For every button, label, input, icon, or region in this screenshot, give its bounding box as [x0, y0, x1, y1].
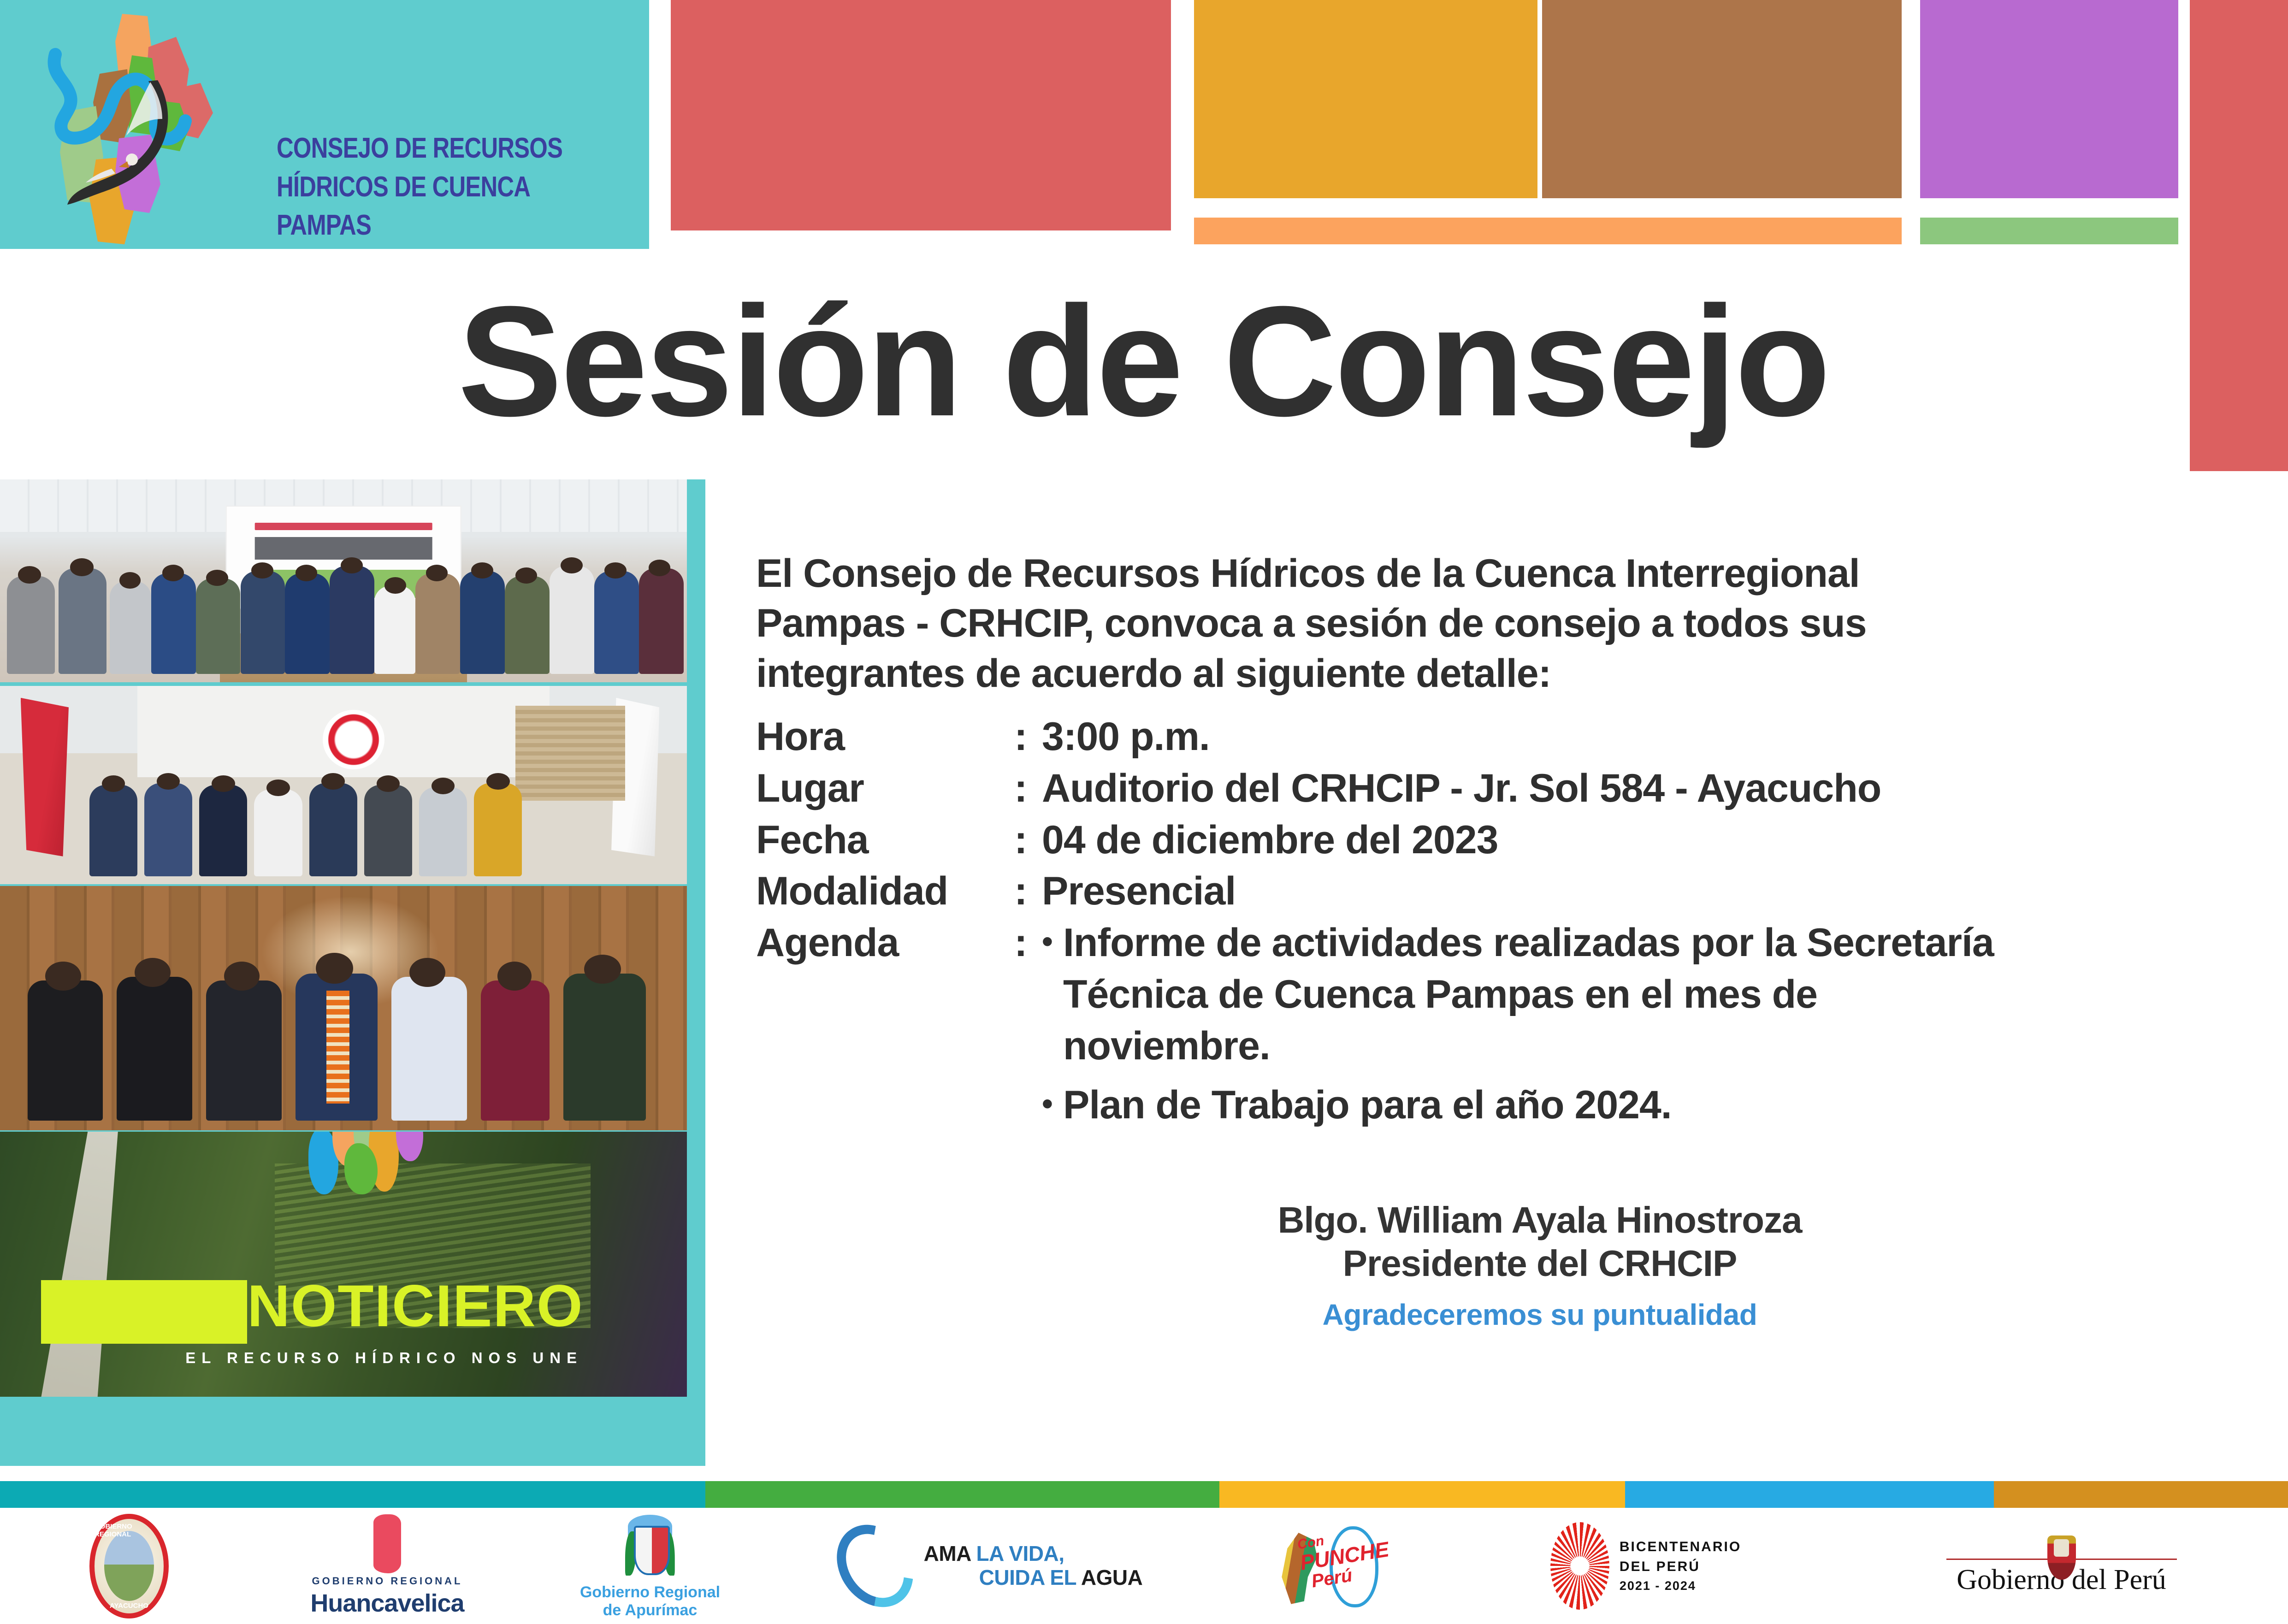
bicentenario-line-3: 2021 - 2024: [1620, 1577, 1741, 1595]
apurimac-line-2: de Apurímac: [603, 1602, 698, 1618]
logo-gobierno-del-peru: Gobierno del Perú: [1835, 1508, 2288, 1624]
detail-row-hora: Hora : 3:00 p.m.: [756, 711, 2019, 763]
top-block-yellow: [1194, 0, 1537, 198]
ayacucho-bottom-label: AYACUCHO: [110, 1602, 148, 1610]
logo-gobierno-regional-apurimac: Gobierno Regional de Apurímac: [516, 1508, 784, 1624]
footer-bar-ochre: [1994, 1481, 2288, 1508]
signature-block: Blgo. William Ayala Hinostroza President…: [1180, 1199, 1899, 1332]
ama-la-vida-text: AMA LA VIDA, CUIDA EL AGUA: [924, 1542, 1143, 1589]
huancavelica-line-2: Huancavelica: [310, 1589, 464, 1618]
bicentenario-line-2: DEL PERÚ: [1620, 1557, 1741, 1577]
bicentenario-sun-icon: [1550, 1522, 1609, 1610]
logo-line-1: CONSEJO DE RECURSOS: [277, 129, 579, 168]
intro-line-2: Pampas - CRHCIP, convoca a sesión de con…: [756, 598, 2019, 648]
ayacucho-seal-icon: GOBIERNO REGIONAL AYACUCHO: [89, 1514, 169, 1618]
footer-logo-row: GOBIERNO REGIONAL AYACUCHO GOBIERNO REGI…: [0, 1508, 2288, 1624]
detail-value-modalidad: Presencial: [1042, 866, 2019, 917]
signature-name: Blgo. William Ayala Hinostroza: [1180, 1199, 1899, 1242]
signature-thanks: Agradeceremos su puntualidad: [1180, 1298, 1899, 1332]
top-block-brown: [1542, 0, 1902, 198]
logo-line-2: HÍDRICOS DE CUENCA PAMPAS: [277, 168, 579, 245]
bicentenario-line-1: BICENTENARIO: [1620, 1537, 1741, 1557]
ama-word-2: LA VIDA,: [976, 1541, 1064, 1565]
photo-flags-meeting: [0, 686, 687, 884]
top-strip-green: [1920, 218, 2178, 244]
signature-role: Presidente del CRHCIP: [1180, 1242, 1899, 1285]
top-block-red: [671, 0, 1171, 230]
detail-colon-hora: :: [1014, 711, 1042, 763]
detail-value-hora: 3:00 p.m.: [1042, 711, 2019, 763]
ama-word-1: AMA: [924, 1541, 971, 1565]
logo-gobierno-regional-huancavelica: GOBIERNO REGIONAL Huancavelica: [258, 1508, 516, 1624]
detail-colon-fecha: :: [1014, 815, 1042, 866]
poster-canvas: CONSEJO DE RECURSOS HÍDRICOS DE CUENCA P…: [0, 0, 2288, 1624]
huancavelica-line-1: GOBIERNO REGIONAL: [312, 1575, 462, 1587]
footer-bar-green: [705, 1481, 1219, 1508]
detail-value-lugar: Auditorio del CRHCIP - Jr. Sol 584 - Aya…: [1042, 763, 2019, 815]
ama-word-3: CUIDA EL: [979, 1565, 1076, 1589]
logo-wordmark: CONSEJO DE RECURSOS HÍDRICOS DE CUENCA P…: [277, 129, 579, 245]
photo-collage: NOTICIERO EL RECURSO HÍDRICO NOS UNE: [0, 479, 705, 1466]
footer-bar-blue: [1625, 1481, 1994, 1508]
top-block-purple: [1920, 0, 2178, 198]
announcement-body: El Consejo de Recursos Hídricos de la Cu…: [756, 549, 2019, 1131]
con-punche-peru-icon: Con PUNCHE Perú: [1275, 1524, 1381, 1607]
footer-bar-teal: [0, 1481, 705, 1508]
bullet-icon-2: •: [1042, 1080, 1063, 1128]
water-drop-icon: [821, 1510, 928, 1622]
crhcip-logo-icon: [41, 5, 281, 244]
agenda-item-1-line-2: Técnica de Cuenca Pampas en el mes de no…: [1063, 969, 2019, 1072]
detail-row-modalidad: Modalidad : Presencial: [756, 866, 2019, 917]
apurimac-shield-icon: [625, 1513, 675, 1583]
logo-panel: CONSEJO DE RECURSOS HÍDRICOS DE CUENCA P…: [0, 0, 649, 249]
noticiero-color-block: [41, 1280, 247, 1344]
detail-row-fecha: Fecha : 04 de diciembre del 2023: [756, 815, 2019, 866]
top-strip-orange: [1194, 218, 1902, 244]
photo-group-meeting: [0, 479, 687, 682]
detail-colon-lugar: :: [1014, 763, 1042, 815]
ama-word-4: AGUA: [1081, 1565, 1142, 1589]
footer-bar-yellow: [1219, 1481, 1625, 1508]
top-block-red-right: [2190, 0, 2288, 471]
agenda-item-2: • Plan de Trabajo para el año 2024.: [1042, 1080, 2019, 1131]
ayacucho-top-label: GOBIERNO REGIONAL: [95, 1523, 164, 1538]
page-title: Sesión de Consejo: [210, 253, 2077, 470]
detail-label-lugar: Lugar: [756, 763, 1014, 815]
detail-row-agenda: Agenda : • Informe de actividades realiz…: [756, 917, 2019, 1131]
detail-row-lugar: Lugar : Auditorio del CRHCIP - Jr. Sol 5…: [756, 763, 2019, 815]
detail-colon-modalidad: :: [1014, 866, 1042, 917]
agenda-list: • Informe de actividades realizadas por …: [1042, 917, 2019, 1131]
detail-colon-agenda: :: [1014, 917, 1042, 969]
agenda-item-1-line-1: Informe de actividades realizadas por la…: [1063, 921, 1994, 965]
logo-ama-la-vida: AMA LA VIDA, CUIDA EL AGUA: [784, 1508, 1199, 1624]
footer-color-bar: [0, 1481, 2288, 1508]
mini-watershed-map-icon: [302, 1132, 454, 1233]
apurimac-line-1: Gobierno Regional: [580, 1584, 720, 1600]
agenda-item-1-cont: Técnica de Cuenca Pampas en el mes de no…: [1042, 969, 2019, 1072]
detail-label-fecha: Fecha: [756, 815, 1014, 866]
noticiero-subtitle: EL RECURSO HÍDRICO NOS UNE: [185, 1349, 583, 1367]
photo-officials-wood: [0, 886, 687, 1130]
detail-label-hora: Hora: [756, 711, 1014, 763]
detail-label-agenda: Agenda: [756, 917, 1014, 969]
huancavelica-map-icon: [373, 1514, 401, 1573]
photo-landscape-noticiero: NOTICIERO EL RECURSO HÍDRICO NOS UNE: [0, 1132, 687, 1397]
logo-bicentenario: BICENTENARIO DEL PERÚ 2021 - 2024: [1457, 1508, 1835, 1624]
detail-rows: Hora : 3:00 p.m. Lugar : Auditorio del C…: [756, 711, 2019, 1131]
logo-gobierno-regional-ayacucho: GOBIERNO REGIONAL AYACUCHO: [0, 1508, 258, 1624]
detail-value-fecha: 04 de diciembre del 2023: [1042, 815, 2019, 866]
peru-coat-of-arms-icon: [2047, 1535, 2076, 1580]
agenda-item-2-text: Plan de Trabajo para el año 2024.: [1063, 1080, 2019, 1131]
agenda-item-1-text: Informe de actividades realizadas por la…: [1063, 917, 2019, 969]
intro-line-3: integrantes de acuerdo al siguiente deta…: [756, 649, 2019, 698]
intro-line-1: El Consejo de Recursos Hídricos de la Cu…: [756, 549, 2019, 598]
intro-paragraph: El Consejo de Recursos Hídricos de la Cu…: [756, 549, 2019, 698]
agenda-item-1: • Informe de actividades realizadas por …: [1042, 917, 2019, 969]
logo-con-punche-peru: Con PUNCHE Perú: [1199, 1508, 1457, 1624]
bullet-icon: •: [1042, 917, 1063, 966]
noticiero-title: NOTICIERO: [247, 1272, 583, 1340]
detail-label-modalidad: Modalidad: [756, 866, 1014, 917]
